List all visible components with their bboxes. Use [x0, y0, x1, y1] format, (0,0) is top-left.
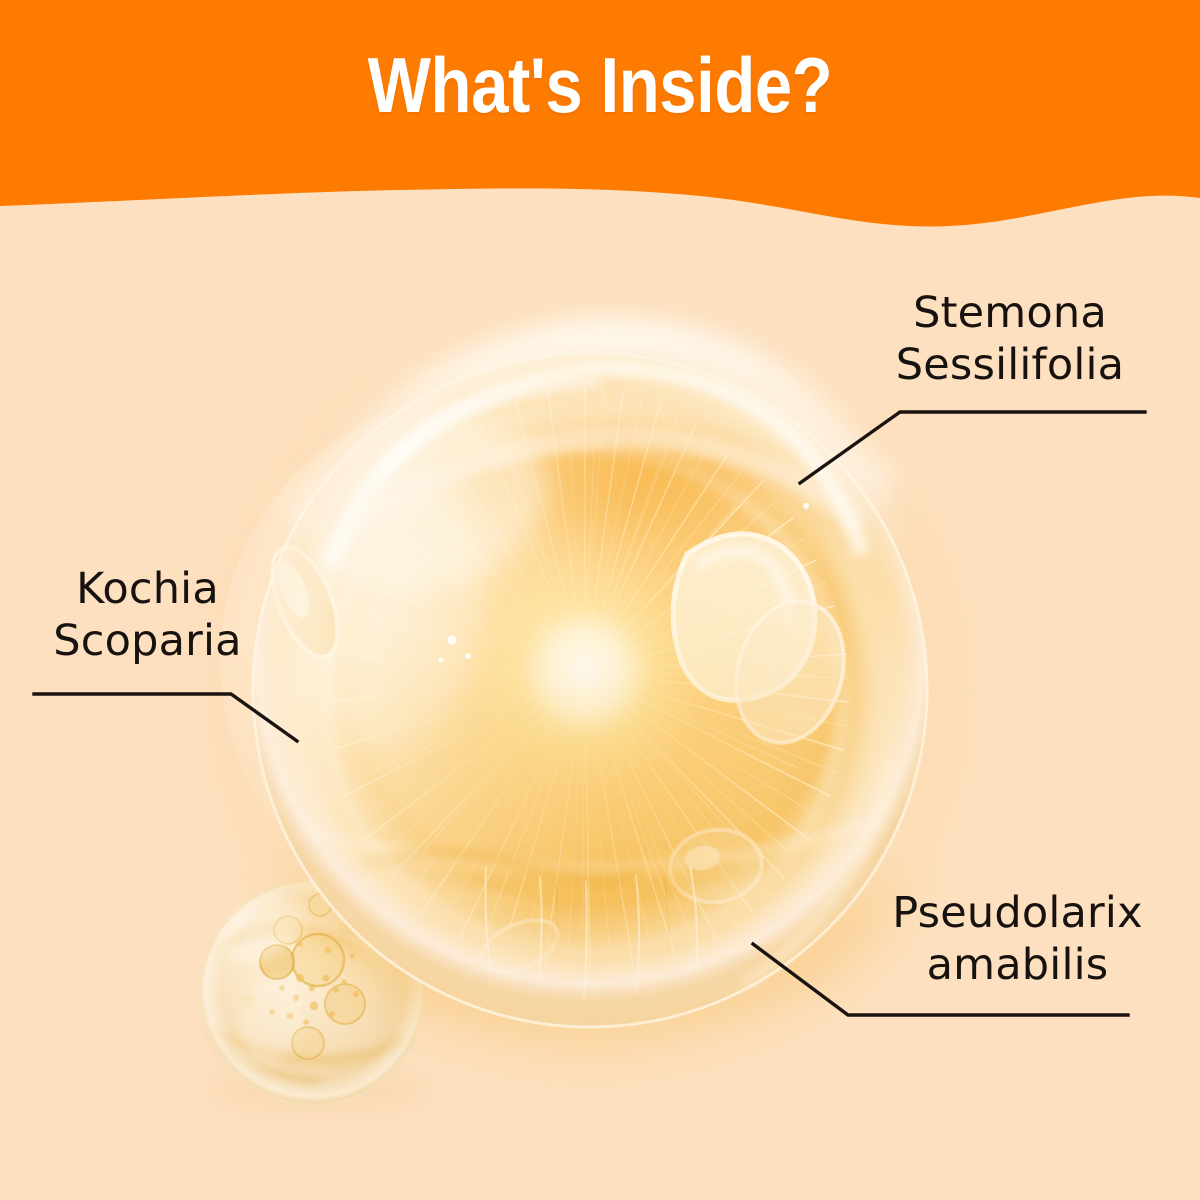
- leader-line-stemona: [800, 412, 1145, 483]
- leader-line-kochia: [34, 694, 297, 741]
- ingredient-label-stemona-sessilifolia: Stemona Sessilifolia: [845, 288, 1175, 391]
- infographic-canvas: Stemona Sessilifolia Kochia Scoparia Pse…: [0, 0, 1200, 1200]
- ingredient-label-kochia-scoparia: Kochia Scoparia: [10, 564, 285, 667]
- ingredient-label-pseudolarix-amabilis: Pseudolarix amabilis: [845, 888, 1190, 991]
- page-title: What's Inside?: [84, 46, 1116, 124]
